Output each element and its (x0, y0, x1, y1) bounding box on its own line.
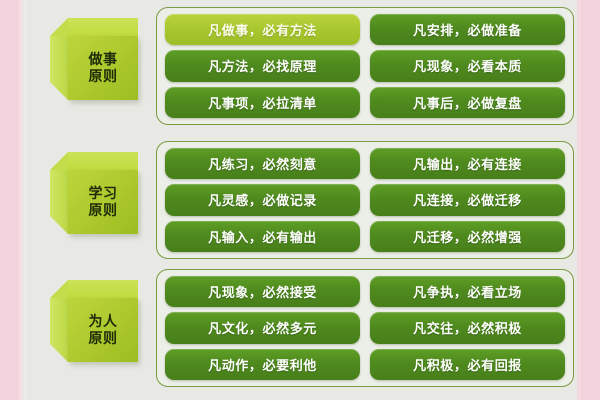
cube-front-face: 为人 原则 (68, 298, 138, 362)
principle-pill[interactable]: 凡文化，必然多元 (165, 312, 360, 343)
cube-label-line2: 原则 (89, 68, 118, 85)
principle-pill[interactable]: 凡交往，必然积极 (370, 312, 565, 343)
principle-pill[interactable]: 凡事项，必拉清单 (165, 87, 360, 118)
cube-front-face: 学习 原则 (68, 170, 138, 234)
principle-pill[interactable]: 凡连接，必做迁移 (370, 184, 565, 215)
decorative-band-right (578, 0, 600, 400)
principle-pill[interactable]: 凡现象，必然接受 (165, 276, 360, 307)
principle-pill-container: 凡做事，必有方法 凡安排，必做准备 凡方法，必找原理 凡现象，必看本质 凡事项，… (156, 7, 574, 125)
principle-pill[interactable]: 凡练习，必然刻意 (165, 148, 360, 179)
cube-3d-做事原则: 做事 原则 (26, 4, 156, 128)
cube-left-bevel (50, 216, 68, 234)
cube-top-bevel (50, 280, 68, 298)
cube-label-line1: 为人 (89, 313, 118, 330)
principle-pill[interactable]: 凡方法，必找原理 (165, 50, 360, 81)
cube-top-bevel (50, 152, 68, 170)
principle-pill[interactable]: 凡迁移，必然增强 (370, 221, 565, 252)
principle-pill[interactable]: 凡积极，必有回报 (370, 349, 565, 380)
cube-label-line1: 学习 (89, 185, 118, 202)
principle-group-row: 学习 原则 凡练习，必然刻意 凡输出，必有连接 凡灵感，必做记录 凡连接，必做迁… (26, 138, 574, 262)
cube-top-face (68, 152, 138, 170)
cube-3d-学习原则: 学习 原则 (26, 138, 156, 262)
principle-pill[interactable]: 凡输出，必有连接 (370, 148, 565, 179)
cube-top-face (68, 18, 138, 36)
cube-left-bevel (50, 82, 68, 100)
cube-label-line2: 原则 (89, 330, 118, 347)
decorative-band-left (0, 0, 22, 400)
principle-pill[interactable]: 凡安排，必做准备 (370, 14, 565, 45)
principle-pill[interactable]: 凡动作，必要利他 (165, 349, 360, 380)
cube-front-face: 做事 原则 (68, 36, 138, 100)
principle-group-row: 为人 原则 凡现象，必然接受 凡争执，必看立场 凡文化，必然多元 凡交往，必然积… (26, 266, 574, 390)
principle-group-row: 做事 原则 凡做事，必有方法 凡安排，必做准备 凡方法，必找原理 凡现象，必看本… (26, 4, 574, 128)
cube-label-line2: 原则 (89, 202, 118, 219)
decorative-band-right-inner (577, 0, 581, 400)
cube-label-line1: 做事 (89, 51, 118, 68)
principle-pill-container: 凡练习，必然刻意 凡输出，必有连接 凡灵感，必做记录 凡连接，必做迁移 凡输入，… (156, 141, 574, 259)
principles-infographic: 做事 原则 凡做事，必有方法 凡安排，必做准备 凡方法，必找原理 凡现象，必看本… (0, 0, 600, 400)
principle-pill[interactable]: 凡争执，必看立场 (370, 276, 565, 307)
cube-shape: 做事 原则 (50, 18, 138, 100)
cube-3d-为人原则: 为人 原则 (26, 266, 156, 390)
principle-pill-container: 凡现象，必然接受 凡争执，必看立场 凡文化，必然多元 凡交往，必然积极 凡动作，… (156, 269, 574, 387)
decorative-band-left-inner (19, 0, 22, 400)
principle-pill[interactable]: 凡现象，必看本质 (370, 50, 565, 81)
cube-left-bevel (50, 344, 68, 362)
principle-pill[interactable]: 凡灵感，必做记录 (165, 184, 360, 215)
cube-shape: 为人 原则 (50, 280, 138, 362)
cube-top-face (68, 280, 138, 298)
cube-shape: 学习 原则 (50, 152, 138, 234)
principle-pill[interactable]: 凡做事，必有方法 (165, 14, 360, 45)
cube-top-bevel (50, 18, 68, 36)
principle-pill[interactable]: 凡事后，必做复盘 (370, 87, 565, 118)
principle-pill[interactable]: 凡输入，必有输出 (165, 221, 360, 252)
